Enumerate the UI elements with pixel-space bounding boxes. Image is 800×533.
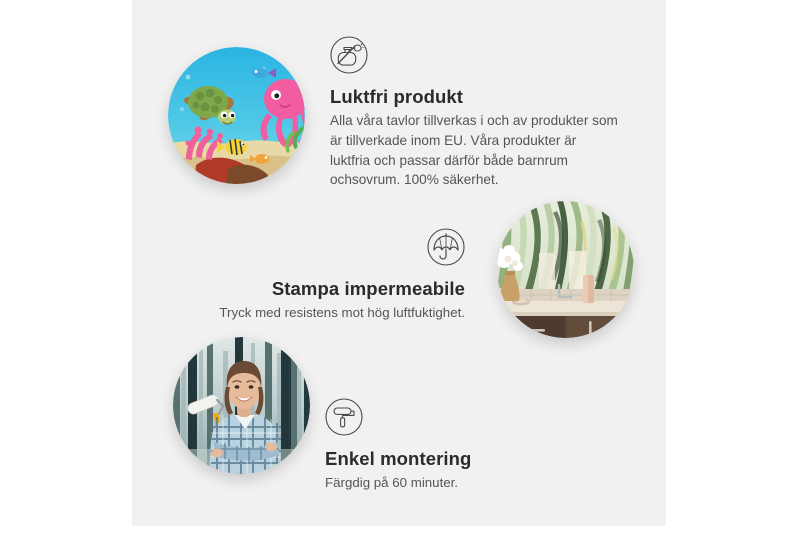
product-image-bathroom[interactable] — [497, 201, 634, 338]
product-image-painter[interactable] — [173, 337, 310, 474]
icon-wrap-waterproof — [205, 228, 465, 271]
umbrella-icon — [427, 228, 465, 266]
product-image-underwater[interactable] — [168, 47, 305, 184]
feature-description: Tryck med resistens mot hög luftfuktighe… — [205, 303, 465, 322]
feature-description: Alla våra tavlor tillverkas i och av pro… — [330, 111, 620, 190]
icon-wrap-mounting — [325, 398, 575, 441]
feature-description: Färgdig på 60 minuter. — [325, 473, 575, 492]
feature-title: Luktfri produkt — [330, 85, 620, 108]
feature-title: Enkel montering — [325, 447, 575, 470]
no-perfume-spray-icon — [330, 36, 368, 74]
feature-title: Stampa impermeabile — [205, 277, 465, 300]
icon-wrap-odour — [330, 36, 620, 79]
paint-roller-icon — [325, 398, 363, 436]
feature-odour-free: Luktfri produkt Alla våra tavlor tillver… — [330, 36, 620, 190]
feature-waterproof-print: Stampa impermeabile Tryck med resistens … — [205, 228, 465, 322]
feature-easy-mounting: Enkel montering Färgdig på 60 minuter. — [325, 398, 575, 492]
feature-infographic: Luktfri produkt Alla våra tavlor tillver… — [0, 0, 800, 533]
